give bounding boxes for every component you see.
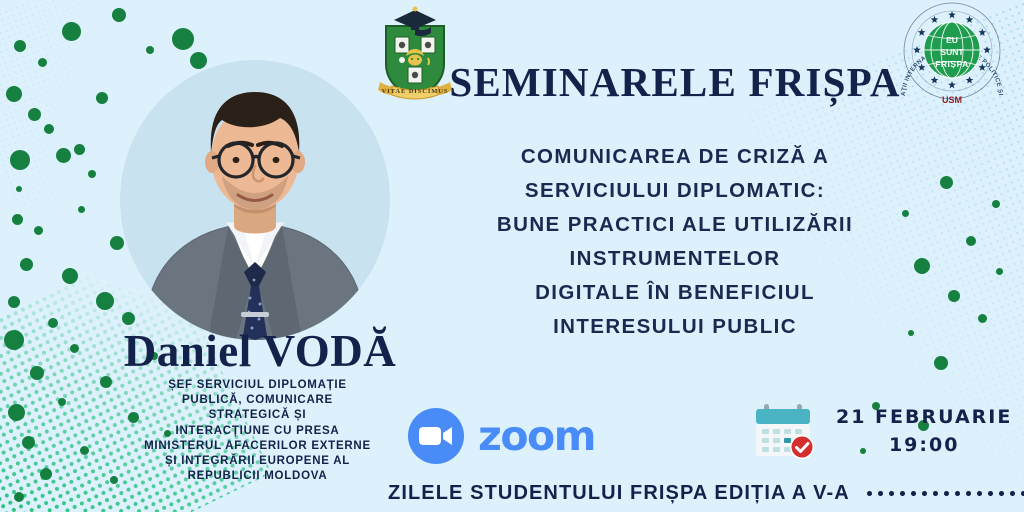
- subtitle-line-1: SERVICIULUI DIPLOMATIC:: [410, 174, 940, 208]
- decorative-dot: [14, 40, 26, 52]
- decorative-dot: [56, 148, 71, 163]
- decorative-dot: [8, 296, 20, 308]
- seal-star: [918, 29, 926, 36]
- decorative-dot: [992, 200, 1000, 208]
- seal-star: [913, 46, 921, 53]
- zoom-camera-icon: [408, 408, 464, 464]
- zoom-wordmark: zoom: [478, 416, 595, 457]
- decorative-dot: [96, 292, 114, 310]
- bottom-banner: ZILELE STUDENTULUI FRIȘPA EDIȚIA A V-A: [388, 482, 1024, 505]
- decorative-dot: [38, 58, 47, 67]
- banner-text: ZILELE STUDENTULUI FRIȘPA EDIȚIA A V-A: [388, 482, 850, 505]
- event-datetime: 21 FEBRUARIE 19:00: [752, 400, 1012, 462]
- decorative-dot: [44, 124, 54, 134]
- decorative-dot: [62, 268, 78, 284]
- subtitle-line-0: COMUNICAREA DE CRIZĂ A: [410, 140, 940, 174]
- decorative-dot: [16, 186, 22, 192]
- decorative-dot: [6, 86, 22, 102]
- decorative-dot: [78, 206, 85, 213]
- decorative-dot: [28, 108, 41, 121]
- decorative-dot: [978, 314, 987, 323]
- speaker-portrait: [120, 60, 390, 340]
- seal-globe-line1: EU: [946, 35, 958, 45]
- decorative-dot: [62, 22, 81, 41]
- seminar-subtitle: COMUNICAREA DE CRIZĂ ASERVICIULUI DIPLOM…: [410, 140, 940, 344]
- decorative-dot: [112, 8, 126, 22]
- seal-star: [979, 29, 987, 36]
- credential-line-0: ȘEF SERVICIUL DIPLOMAȚIE: [5, 378, 510, 393]
- seal-star: [966, 76, 974, 83]
- decorative-dot: [20, 258, 33, 271]
- page-title: SEMINARELE FRIȘPA: [430, 58, 920, 106]
- event-date-text: 21 FEBRUARIE 19:00: [836, 403, 1012, 459]
- decorative-dot: [940, 176, 953, 189]
- seal-star: [931, 76, 939, 83]
- event-time: 19:00: [836, 431, 1012, 459]
- seal-star: [983, 46, 991, 53]
- zoom-logo[interactable]: zoom: [408, 408, 595, 464]
- subtitle-line-2: BUNE PRACTICI ALE UTILIZĂRII: [410, 208, 940, 242]
- banner-dotted-line: [864, 490, 1024, 497]
- decorative-dot: [14, 492, 24, 502]
- seal-globe-line3: FRIȘPA: [935, 59, 969, 69]
- seal-abbrev: USM: [942, 95, 962, 104]
- subtitle-line-5: INTERESULUI PUBLIC: [410, 310, 940, 344]
- portrait-illustration: [130, 72, 380, 340]
- decorative-dot: [10, 150, 30, 170]
- credential-line-1: PUBLICĂ, COMUNICARE: [5, 393, 510, 408]
- decorative-dot: [934, 356, 948, 370]
- decorative-dot: [12, 214, 23, 225]
- calendar-check-icon: [752, 400, 818, 462]
- poster-canvas: VITAE DISCIMUS FACULTATEA RELAȚII INTERN…: [0, 0, 1024, 512]
- subtitle-line-4: DIGITALE ÎN BENEFICIUL: [410, 276, 940, 310]
- decorative-dot: [996, 268, 1003, 275]
- decorative-dot: [146, 46, 154, 54]
- seal-star: [948, 81, 956, 88]
- subtitle-line-3: INSTRUMENTELOR: [410, 242, 940, 276]
- decorative-dot: [88, 170, 96, 178]
- seal-star: [948, 11, 956, 18]
- decorative-dot: [74, 144, 85, 155]
- decorative-dot: [34, 226, 43, 235]
- event-date: 21 FEBRUARIE: [836, 403, 1012, 431]
- decorative-dot: [172, 28, 194, 50]
- decorative-dot: [96, 92, 108, 104]
- decorative-dot: [948, 290, 960, 302]
- seal-globe-line2: SUNT: [940, 47, 964, 57]
- decorative-dot: [966, 236, 976, 246]
